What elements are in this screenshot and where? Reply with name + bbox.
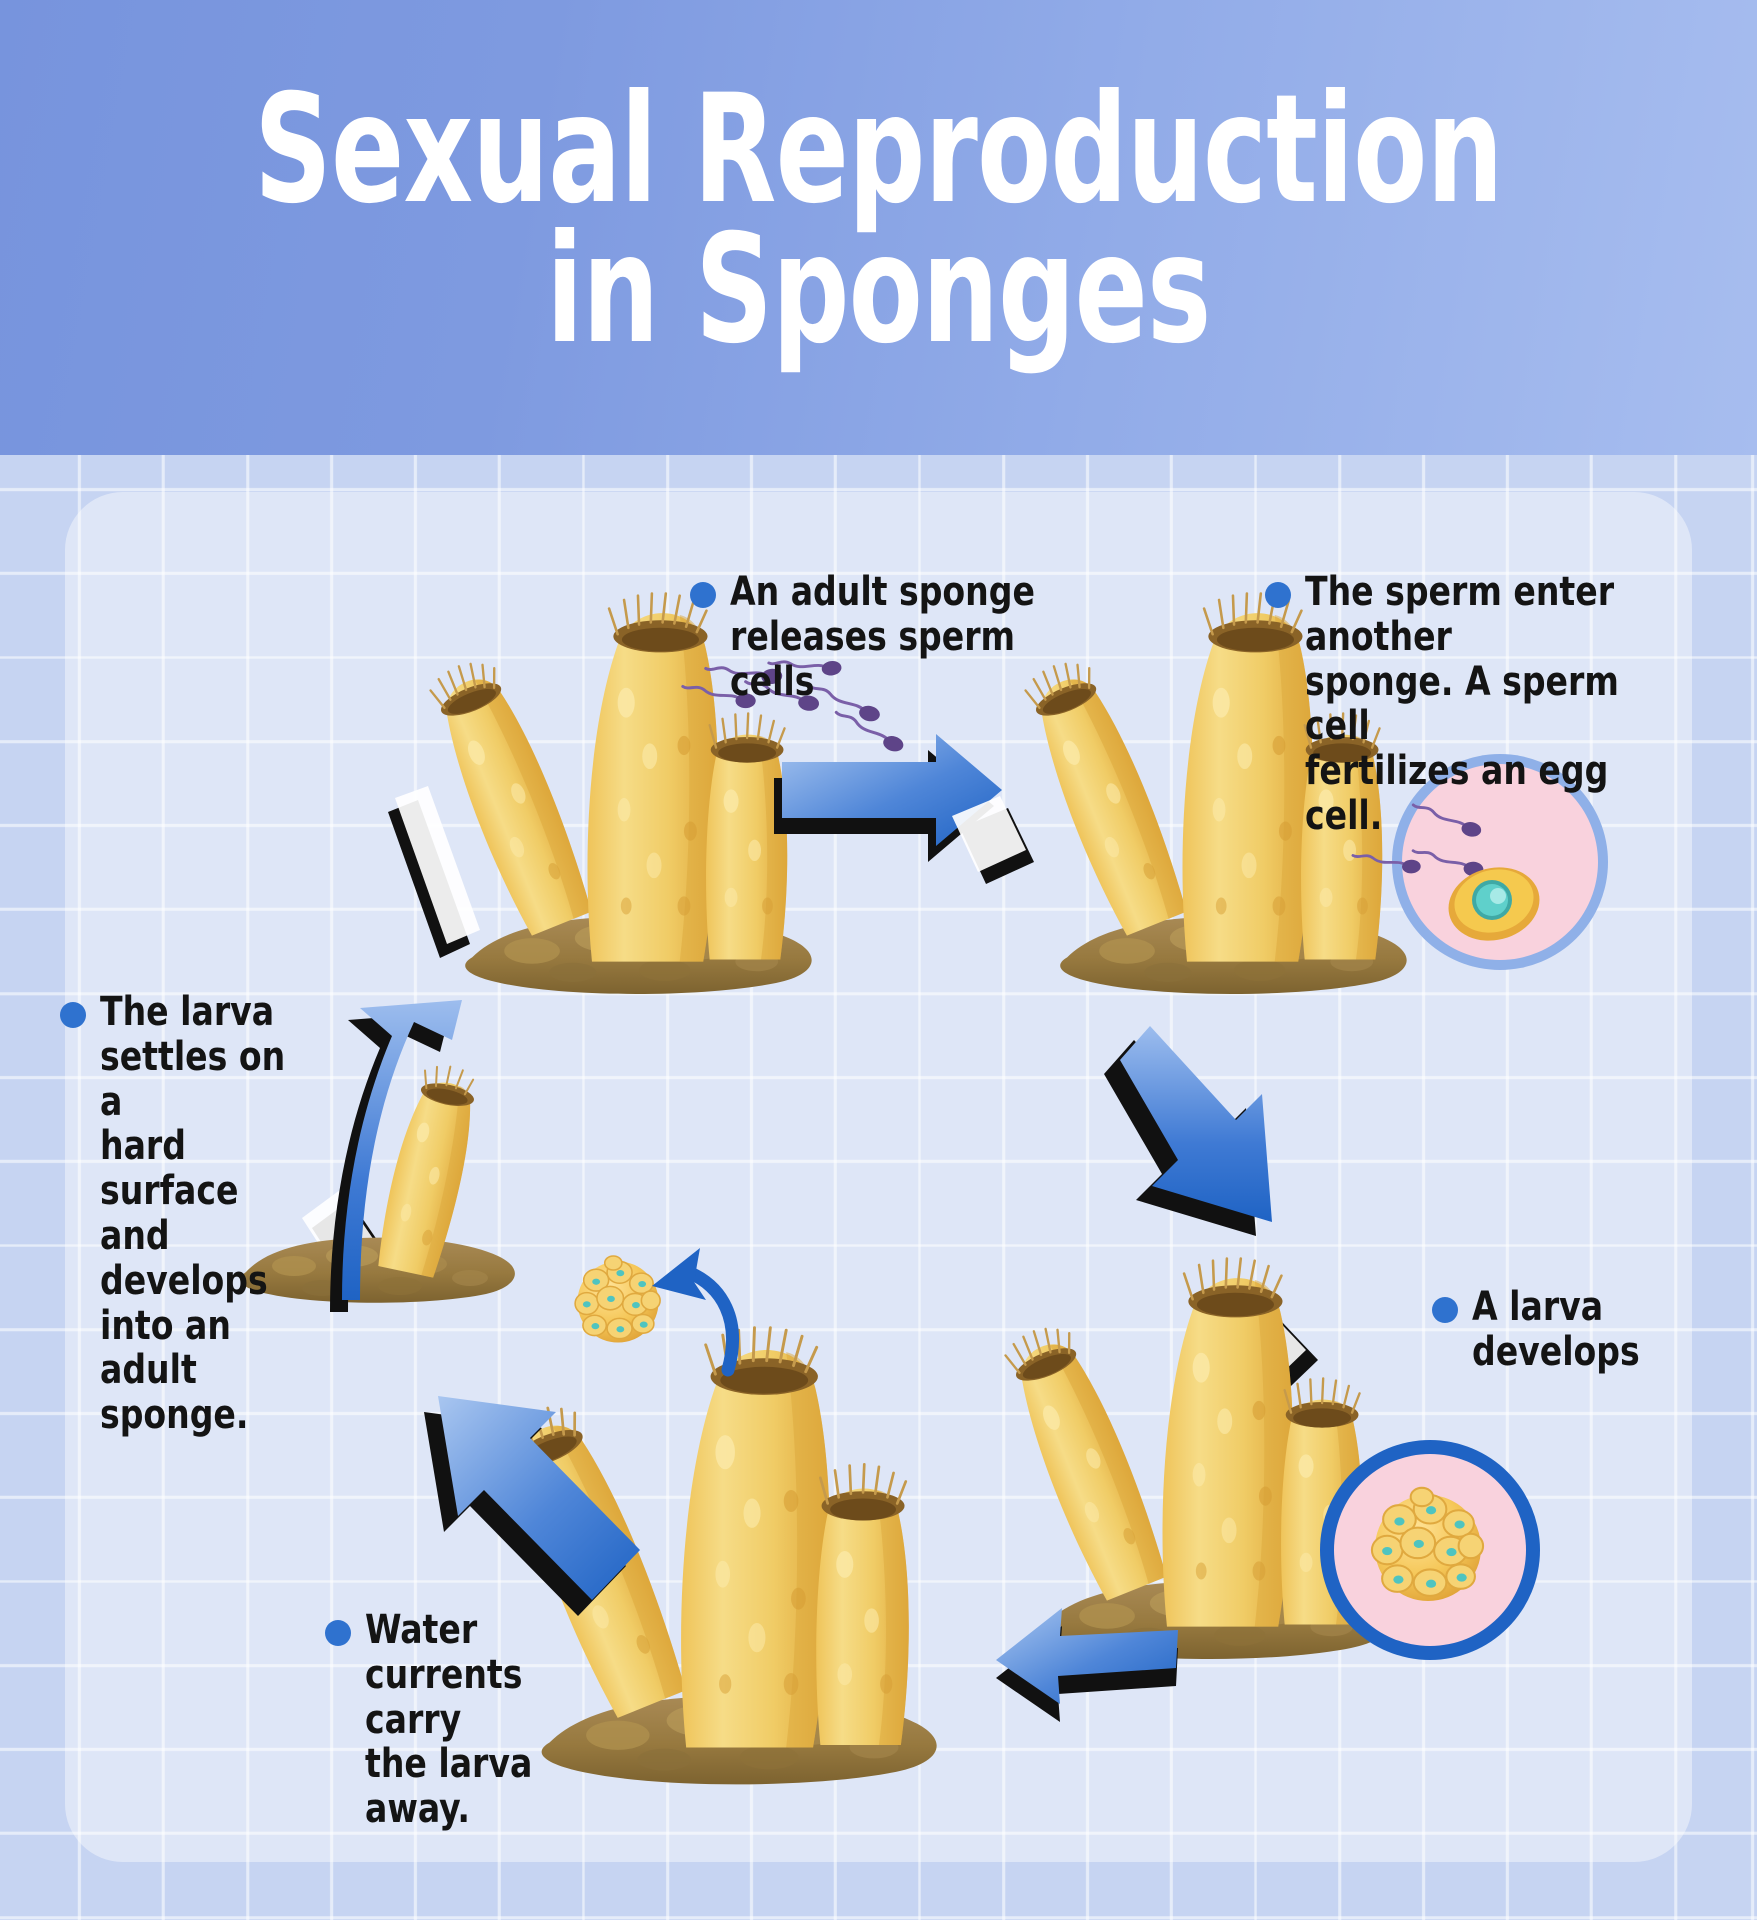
bullet-icon (325, 1620, 351, 1646)
poster: Sexual Reproduction in Sponges (0, 0, 1757, 1920)
bullet-icon (1432, 1297, 1458, 1323)
callout-water-currents-text: Water currents carry the larva away. (365, 1608, 604, 1832)
callout-larva-develops-text: A larva develops (1472, 1285, 1640, 1375)
callout-sperm-enter-text: The sperm enter another sponge. A sperm … (1305, 570, 1664, 839)
bullet-icon (1265, 582, 1291, 608)
bullet-icon (690, 582, 716, 608)
callout-adult-sponge: An adult sponge releases sperm cells (690, 570, 1120, 704)
callout-larva-develops: A larva develops (1432, 1285, 1682, 1375)
poster-header: Sexual Reproduction in Sponges (0, 0, 1757, 455)
page-title: Sexual Reproduction in Sponges (254, 81, 1503, 374)
callout-water-currents: Water currents carry the larva away. (325, 1608, 625, 1832)
callout-larva-settles: The larva settles on a hard surface and … (60, 990, 325, 1438)
callout-larva-settles-text: The larva settles on a hard surface and … (100, 990, 307, 1438)
callout-adult-sponge-text: An adult sponge releases sperm cells (730, 570, 1089, 704)
bullet-icon (60, 1002, 86, 1028)
callout-sperm-enter: The sperm enter another sponge. A sperm … (1265, 570, 1695, 839)
